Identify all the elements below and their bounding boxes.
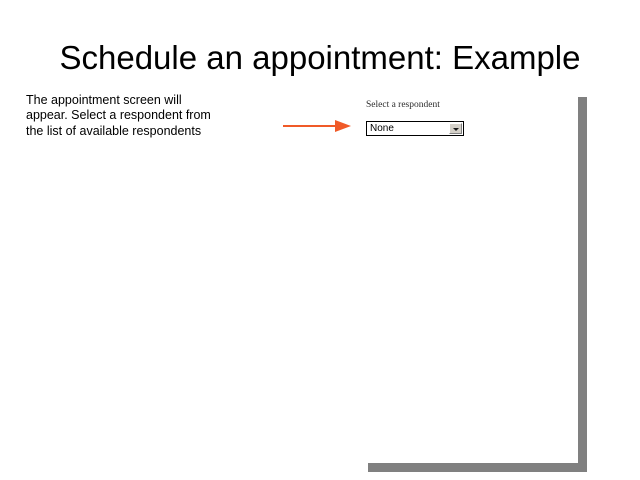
body-line: appear. Select a respondent from	[26, 108, 256, 123]
respondent-select-value: None	[367, 122, 449, 135]
chevron-down-icon[interactable]	[449, 123, 462, 134]
body-paragraph: The appointment screen will appear. Sele…	[26, 93, 256, 139]
respondent-label: Select a respondent	[366, 100, 440, 111]
body-line: The appointment screen will	[26, 93, 256, 108]
arrow-right-icon	[283, 118, 351, 134]
shadow-bar-horizontal	[368, 463, 587, 472]
slide-canvas: Schedule an appointment: Example The app…	[0, 0, 640, 480]
page-title: Schedule an appointment: Example	[20, 38, 620, 78]
respondent-select[interactable]: None	[366, 121, 464, 136]
shadow-bar-vertical	[578, 97, 587, 472]
body-line: the list of available respondents	[26, 124, 256, 139]
